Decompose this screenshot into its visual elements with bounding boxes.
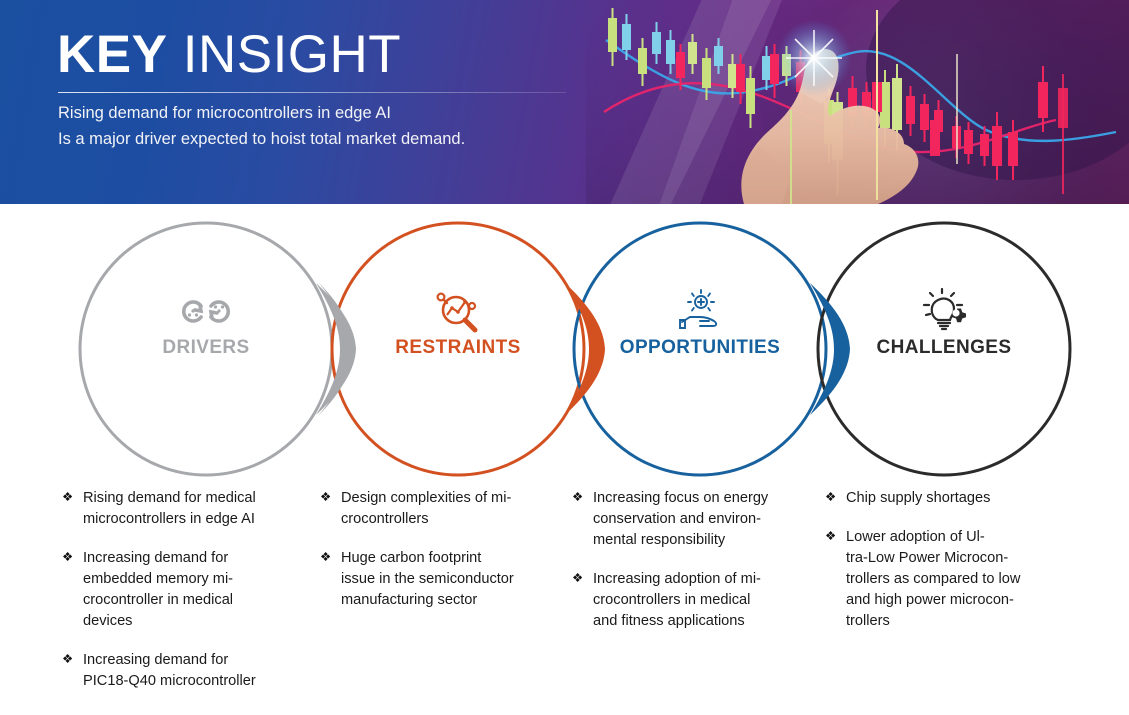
list-item-line: and high power microcon- xyxy=(846,590,1075,611)
bullet-diamond-icon: ❖ xyxy=(62,548,73,567)
subtitle-line-2: Is a major driver expected to hoist tota… xyxy=(58,126,618,152)
list-item-line: Increasing demand for xyxy=(83,548,307,569)
list-item: ❖Design complexities of mi-crocontroller… xyxy=(320,488,565,530)
list-item-line: issue in the semiconductor xyxy=(341,569,565,590)
title-divider xyxy=(58,92,566,93)
list-item-line: crocontrollers xyxy=(341,509,565,530)
header-banner: KEY INSIGHT Rising demand for microcontr… xyxy=(0,0,1129,204)
list-item-line: tra-Low Power Microcon- xyxy=(846,548,1075,569)
list-item-line: Increasing demand for xyxy=(83,650,307,671)
bullet-diamond-icon: ❖ xyxy=(572,488,583,507)
column-restraints: ❖Design complexities of mi-crocontroller… xyxy=(320,488,565,629)
bullet-diamond-icon: ❖ xyxy=(320,488,331,507)
list-item-line: mental responsibility xyxy=(593,530,812,551)
magnifier-chart-icon xyxy=(432,290,484,339)
node-label-restraints: RESTRAINTS xyxy=(358,337,558,359)
list-item: ❖Lower adoption of Ul-tra-Low Power Micr… xyxy=(825,527,1075,632)
cycle-arrows-icon xyxy=(180,295,232,332)
list-item-line: PIC18-Q40 microcontroller xyxy=(83,671,307,692)
bullet-list-challenges: ❖Chip supply shortages❖Lower adoption of… xyxy=(825,488,1075,632)
list-item-text: Increasing demand forembedded memory mi-… xyxy=(83,548,307,632)
bullet-diamond-icon: ❖ xyxy=(825,527,836,546)
list-item: ❖Increasing demand forPIC18-Q40 microcon… xyxy=(62,650,307,692)
list-item: ❖Huge carbon footprintissue in the semic… xyxy=(320,548,565,611)
list-item-line: devices xyxy=(83,611,307,632)
column-drivers: ❖Rising demand for medicalmicrocontrolle… xyxy=(62,488,307,710)
list-item-text: Increasing demand forPIC18-Q40 microcont… xyxy=(83,650,307,692)
list-item-line: Lower adoption of Ul- xyxy=(846,527,1075,548)
list-item: ❖Rising demand for medicalmicrocontrolle… xyxy=(62,488,307,530)
list-item-line: Increasing focus on energy xyxy=(593,488,812,509)
page-title: KEY INSIGHT xyxy=(57,28,401,81)
node-label-challenges: CHALLENGES xyxy=(844,337,1044,359)
bullet-diamond-icon: ❖ xyxy=(62,488,73,507)
list-item-text: Rising demand for medicalmicrocontroller… xyxy=(83,488,307,530)
bullet-diamond-icon: ❖ xyxy=(825,488,836,507)
list-item: ❖Chip supply shortages xyxy=(825,488,1075,509)
list-item-text: Design complexities of mi-crocontrollers xyxy=(341,488,565,530)
list-item-text: Increasing adoption of mi-crocontrollers… xyxy=(593,569,812,632)
list-item-line: Chip supply shortages xyxy=(846,488,1075,509)
list-item-line: Rising demand for medical xyxy=(83,488,307,509)
process-flow: DRIVERS OPPORTUNITIES RESTRAINTS xyxy=(0,204,1129,494)
list-item-line: Design complexities of mi- xyxy=(341,488,565,509)
list-item-line: crocontrollers in medical xyxy=(593,590,812,611)
bulb-gear-icon xyxy=(918,287,970,342)
bullet-diamond-icon: ❖ xyxy=(320,548,331,567)
list-item-line: conservation and environ- xyxy=(593,509,812,530)
bullet-diamond-icon: ❖ xyxy=(62,650,73,669)
list-item-line: manufacturing sector xyxy=(341,590,565,611)
column-challenges: ❖Chip supply shortages❖Lower adoption of… xyxy=(825,488,1075,650)
stock-chart-photo xyxy=(586,0,1129,204)
node-label-opportunities: OPPORTUNITIES xyxy=(590,337,810,359)
node-label-drivers: DRIVERS xyxy=(106,337,306,359)
list-item-text: Chip supply shortages xyxy=(846,488,1075,509)
title-light-part: INSIGHT xyxy=(183,25,401,84)
list-item-line: Increasing adoption of mi- xyxy=(593,569,812,590)
list-item-line: Huge carbon footprint xyxy=(341,548,565,569)
infographic-page: KEY INSIGHT Rising demand for microcontr… xyxy=(0,0,1129,715)
hand-idea-icon xyxy=(676,288,726,339)
list-item-line: crocontroller in medical xyxy=(83,590,307,611)
candlestick-chart-illustration xyxy=(586,0,1129,204)
list-item-line: microcontrollers in edge AI xyxy=(83,509,307,530)
bullet-list-drivers: ❖Rising demand for medicalmicrocontrolle… xyxy=(62,488,307,692)
list-item-text: Huge carbon footprintissue in the semico… xyxy=(341,548,565,611)
bullet-diamond-icon: ❖ xyxy=(572,569,583,588)
list-item-text: Lower adoption of Ul-tra-Low Power Micro… xyxy=(846,527,1075,632)
column-opportunities: ❖Increasing focus on energyconservation … xyxy=(572,488,812,650)
title-bold-part: KEY xyxy=(57,25,167,84)
bullet-list-restraints: ❖Design complexities of mi-crocontroller… xyxy=(320,488,565,611)
list-item-text: Increasing focus on energyconservation a… xyxy=(593,488,812,551)
list-item-line: trollers as compared to low xyxy=(846,569,1075,590)
subtitle-line-1: Rising demand for microcontrollers in ed… xyxy=(58,100,618,126)
list-item-line: embedded memory mi- xyxy=(83,569,307,590)
list-item-line: and fitness applications xyxy=(593,611,812,632)
bullet-columns: ❖Rising demand for medicalmicrocontrolle… xyxy=(0,488,1129,715)
list-item: ❖Increasing demand forembedded memory mi… xyxy=(62,548,307,632)
bullet-list-opportunities: ❖Increasing focus on energyconservation … xyxy=(572,488,812,632)
list-item: ❖Increasing adoption of mi-crocontroller… xyxy=(572,569,812,632)
header-subtitle: Rising demand for microcontrollers in ed… xyxy=(58,100,618,153)
list-item-line: trollers xyxy=(846,611,1075,632)
list-item: ❖Increasing focus on energyconservation … xyxy=(572,488,812,551)
